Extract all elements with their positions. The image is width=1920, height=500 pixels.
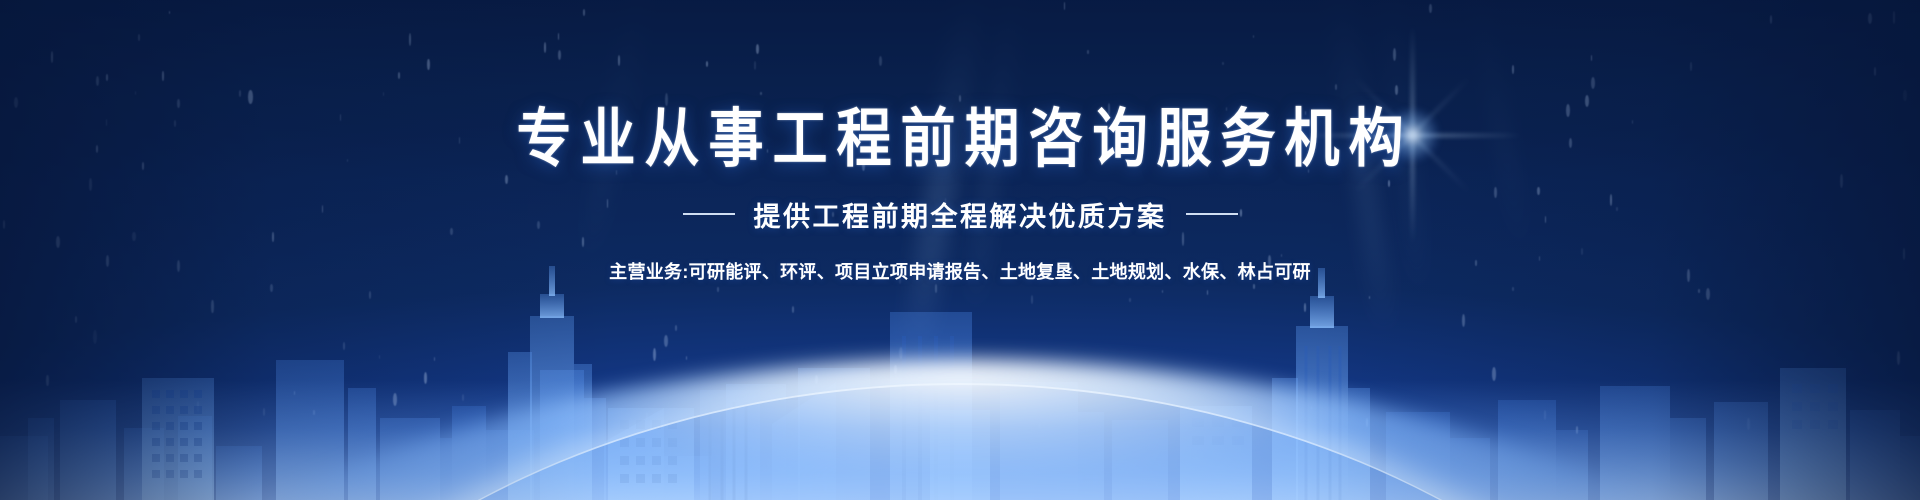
hero-banner: 专业从事工程前期咨询服务机构 提供工程前期全程解决优质方案 主营业务:可研能评、…: [0, 0, 1920, 500]
page-title: 专业从事工程前期咨询服务机构: [0, 106, 1920, 173]
subtitle-row: 提供工程前期全程解决优质方案: [0, 195, 1920, 234]
right-dash-divider: [1186, 213, 1238, 215]
hero-text-block: 专业从事工程前期咨询服务机构 提供工程前期全程解决优质方案 主营业务:可研能评、…: [0, 106, 1920, 284]
left-dash-divider: [683, 213, 735, 215]
business-scope-text: 主营业务:可研能评、环评、项目立项申请报告、土地复垦、土地规划、水保、林占可研: [0, 258, 1920, 284]
hero-subtitle: 提供工程前期全程解决优质方案: [754, 195, 1167, 234]
